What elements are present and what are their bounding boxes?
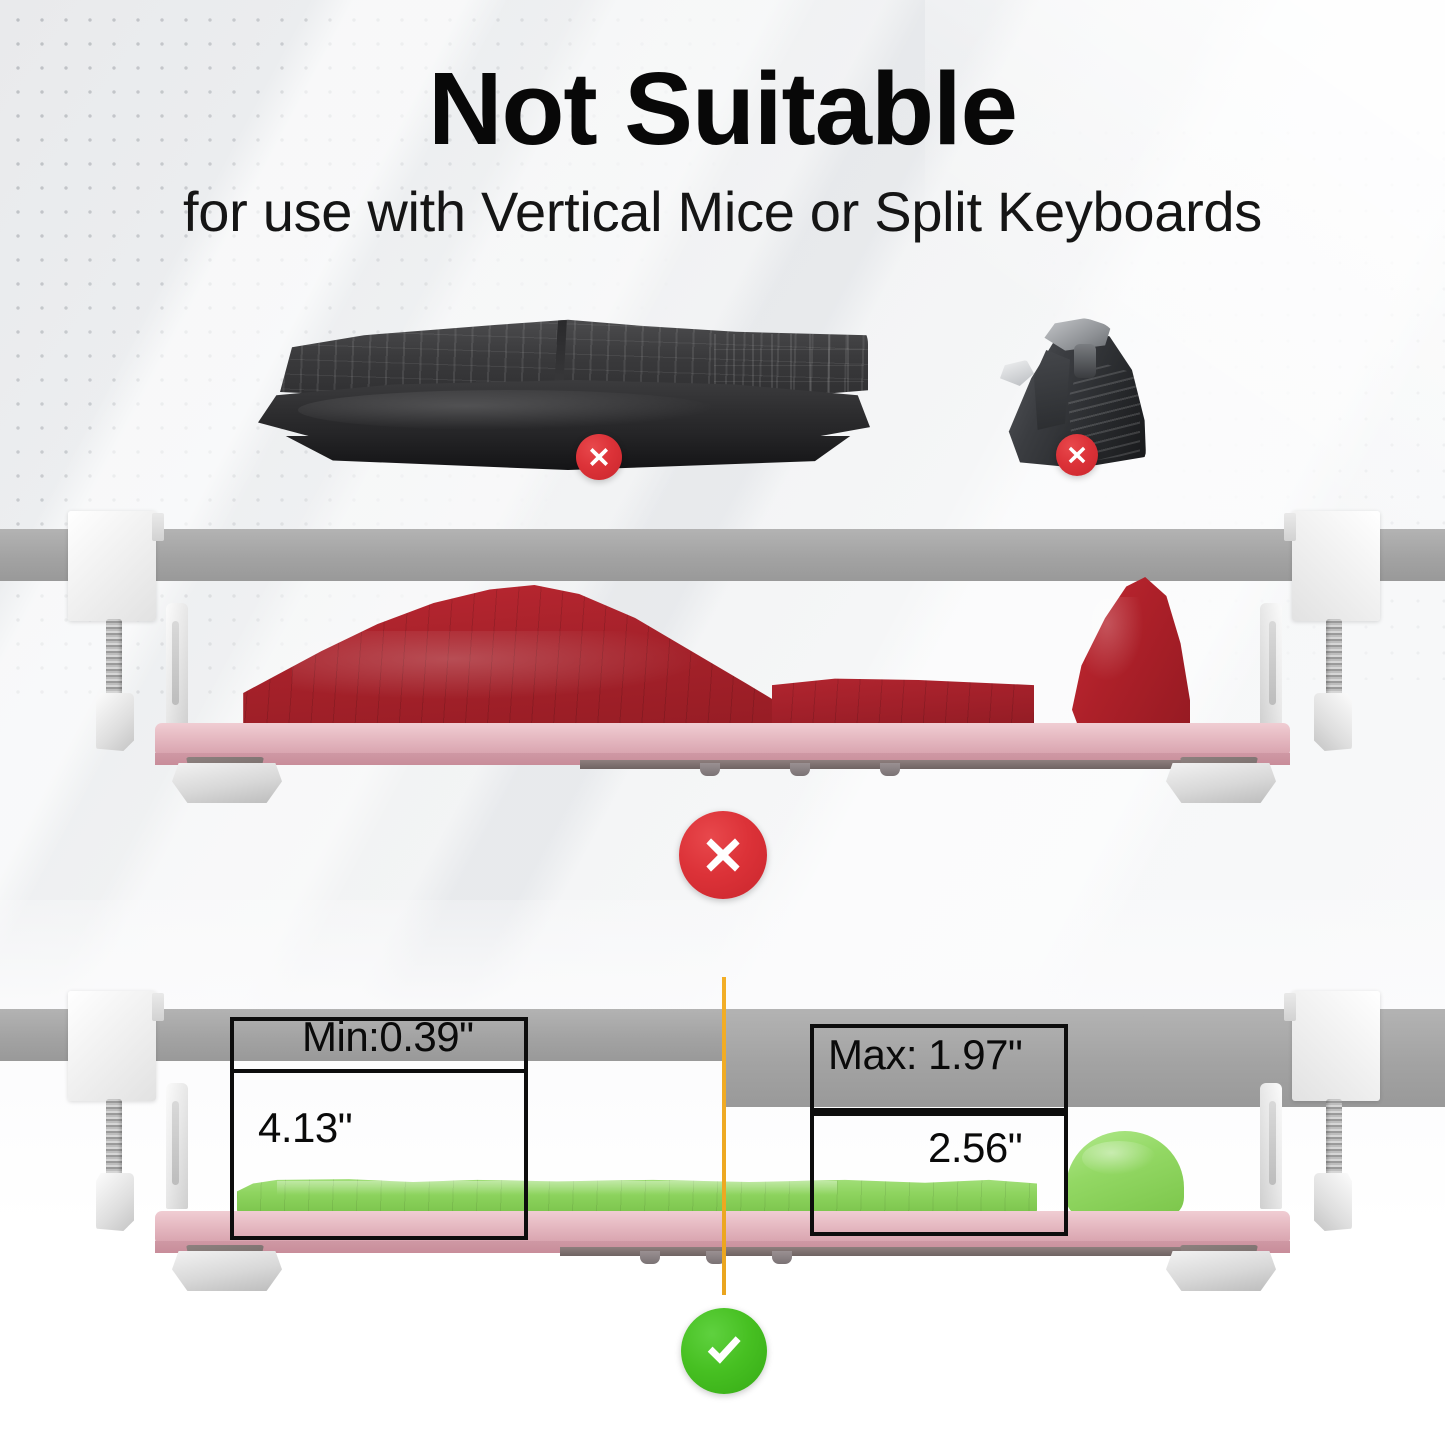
clamp-lip <box>1284 993 1296 1021</box>
page-subtitle: for use with Vertical Mice or Split Keyb… <box>0 179 1445 244</box>
scene-incompatible-setup <box>0 505 1445 805</box>
clamp-screw <box>106 619 122 697</box>
clamp-lip <box>152 513 164 541</box>
tray-mount-collar <box>172 1251 282 1291</box>
mouse-scroll-wheel <box>1074 344 1096 378</box>
tray-mount-collar <box>172 763 282 803</box>
page-title: Not Suitable <box>0 55 1445 163</box>
clamp-screw <box>1326 619 1342 697</box>
dimension-label-max-thickness: Max: 1.97" <box>828 1031 1022 1079</box>
dimension-label-clearance-left: 4.13" <box>258 1104 352 1152</box>
tray-mount-collar <box>1166 1251 1276 1291</box>
clamp-post-slot <box>1269 621 1276 705</box>
clamp-block <box>1292 511 1380 621</box>
clamp-foot-pad <box>96 693 134 751</box>
clamp-foot-pad <box>96 1173 134 1231</box>
mouse-thumb-rest <box>1000 360 1034 386</box>
clamp-screw <box>106 1099 122 1177</box>
clamp-block <box>1292 991 1380 1101</box>
tray-mount-collar <box>1166 763 1276 803</box>
tray-surface <box>155 723 1290 755</box>
verdict-x-icon <box>679 811 767 899</box>
keyboard-body <box>258 318 878 468</box>
mouse-highlight <box>1082 1141 1156 1175</box>
clamp-foot-pad <box>1314 693 1352 751</box>
tray-stud <box>772 1251 792 1264</box>
mouse-buttons <box>1034 350 1070 430</box>
tray-stud <box>700 763 720 776</box>
centerline-marker <box>722 977 726 1295</box>
keyboard-highlight <box>292 631 712 701</box>
x-icon-mouse <box>1056 434 1098 476</box>
header: Not Suitable for use with Vertical Mice … <box>0 55 1445 244</box>
tray-rail <box>560 1247 1245 1256</box>
verdict-check-icon <box>681 1308 767 1394</box>
tray-stud <box>880 763 900 776</box>
tray-rail <box>580 760 1245 769</box>
keyboard-base <box>274 436 862 470</box>
clamp-post-slot <box>1269 1101 1276 1185</box>
clamp-lip <box>1284 513 1296 541</box>
product-photo-row <box>0 300 1445 500</box>
clamp-post-slot <box>172 1101 179 1185</box>
dimension-label-clearance-right: 2.56" <box>928 1124 1022 1172</box>
clamp-post-slot <box>172 621 179 705</box>
split-keyboard-silhouette-red <box>232 585 1032 735</box>
tray-stud <box>790 763 810 776</box>
clamp-foot-pad <box>1314 1173 1352 1231</box>
clamp-block <box>68 991 156 1101</box>
clamp-block <box>68 511 156 621</box>
split-ergonomic-keyboard-photo <box>258 308 878 488</box>
scene-compatible-setup <box>0 985 1445 1285</box>
clamp-lip <box>152 993 164 1021</box>
mouse-highlight <box>1086 597 1146 685</box>
clamp-screw <box>1326 1099 1342 1177</box>
keyboard-highlight <box>298 390 718 430</box>
x-icon-keyboard <box>576 434 622 480</box>
tray-stud <box>640 1251 660 1264</box>
infographic-canvas: Not Suitable for use with Vertical Mice … <box>0 0 1445 1445</box>
